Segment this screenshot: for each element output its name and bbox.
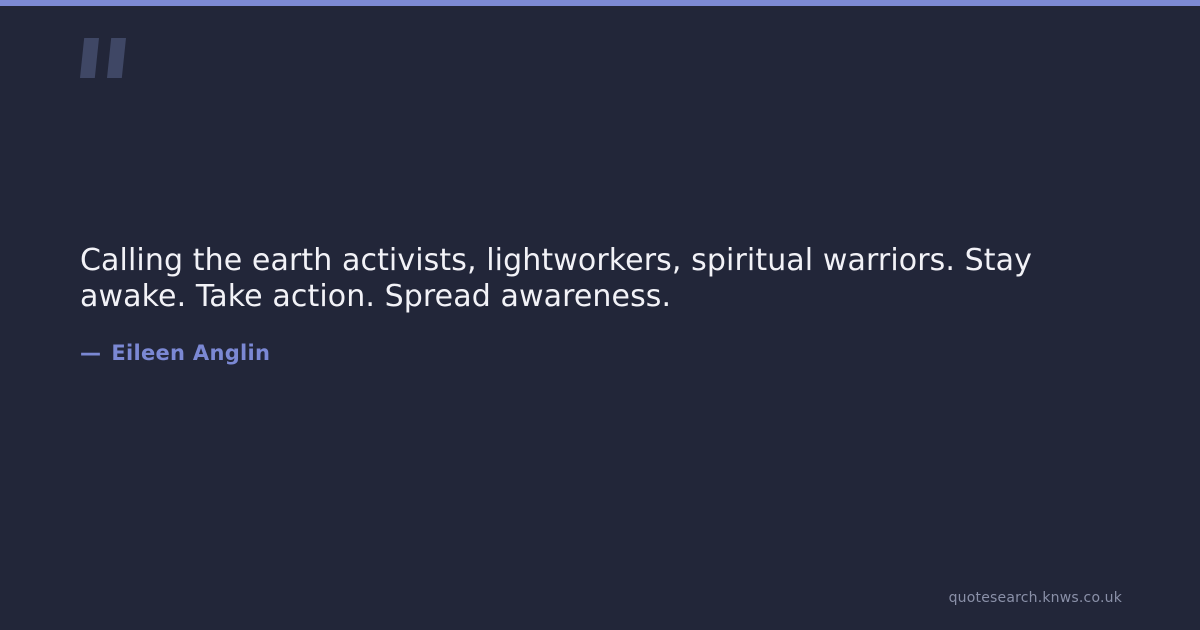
quote-text: Calling the earth activists, lightworker… <box>80 243 1120 315</box>
quotation-mark-icon <box>80 38 132 80</box>
quotation-mark-stroke-right <box>107 38 126 78</box>
top-accent-bar <box>0 0 1200 6</box>
quotation-mark-stroke-left <box>80 38 99 78</box>
attribution-author-name: Eileen Anglin <box>111 341 270 365</box>
attribution-dash: — <box>80 341 101 365</box>
quote-body: Calling the earth activists, lightworker… <box>80 243 1120 315</box>
quote-card: Calling the earth activists, lightworker… <box>0 0 1200 630</box>
site-watermark: quotesearch.knws.co.uk <box>949 590 1122 606</box>
quote-attribution: —Eileen Anglin <box>80 339 270 367</box>
